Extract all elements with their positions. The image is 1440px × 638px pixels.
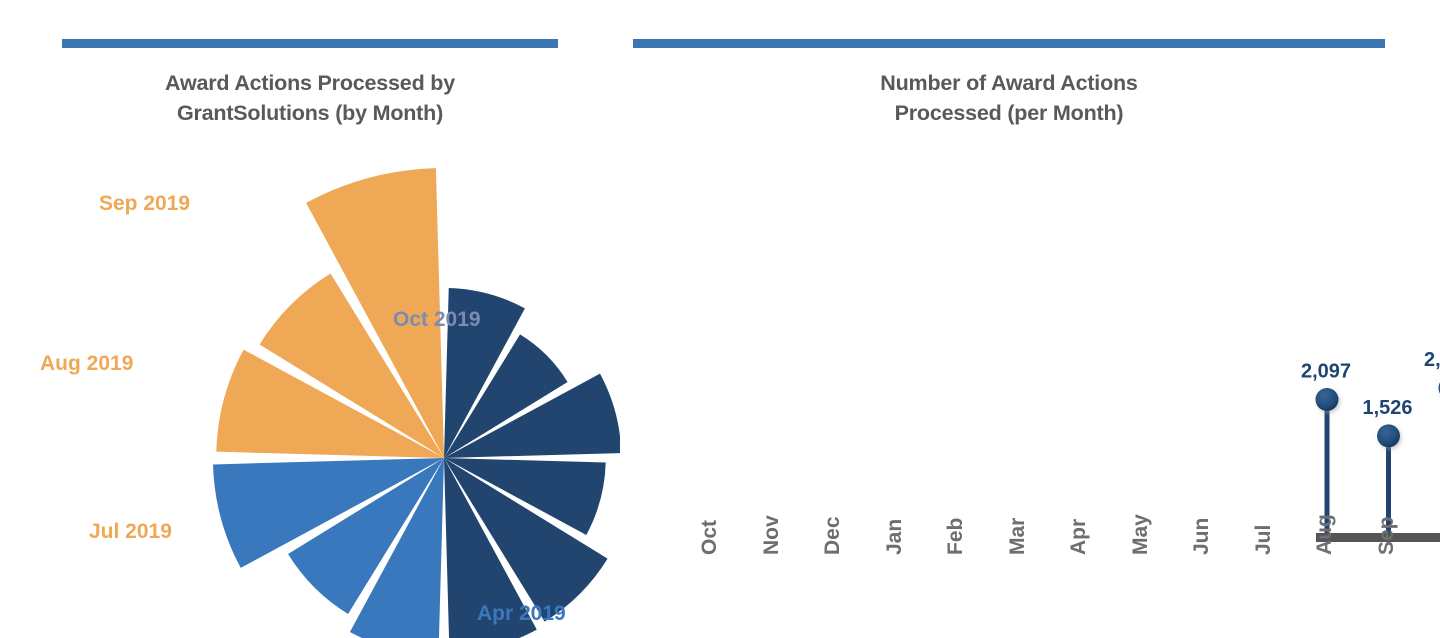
left-chart-title-line2: GrantSolutions (by Month) bbox=[177, 101, 443, 125]
x-axis-label-oct: Oct bbox=[698, 520, 722, 555]
x-axis-label-apr: Apr bbox=[1067, 519, 1091, 555]
rose-label-sep-2019: Sep 2019 bbox=[99, 192, 190, 216]
right-chart-panel: Number of Award Actions Processed (per M… bbox=[620, 0, 1440, 638]
rose-label-apr-2019: Apr 2019 bbox=[477, 602, 566, 626]
left-accent-bar bbox=[62, 39, 558, 48]
right-accent-bar bbox=[633, 39, 1385, 48]
left-chart-panel: Award Actions Processed by GrantSolution… bbox=[0, 0, 620, 638]
lollipop-dot-nov[interactable] bbox=[1377, 424, 1400, 447]
x-axis-label-mar: Mar bbox=[1006, 518, 1030, 555]
rose-label-oct-2019: Oct 2019 bbox=[393, 308, 481, 332]
x-axis-label-dec: Dec bbox=[821, 516, 845, 555]
rose-sectors bbox=[213, 168, 620, 638]
rose-label-jul-2019: Jul 2019 bbox=[89, 520, 172, 544]
lollipop-stems bbox=[1325, 145, 1440, 538]
lollipop-value-nov: 1,526 bbox=[1362, 397, 1412, 419]
lollipop-value-labels: 2,0971,5262,2791,8972,6742,7592,8352,430… bbox=[1301, 110, 1440, 419]
x-axis-label-jul: Jul bbox=[1252, 525, 1276, 555]
x-axis-label-may: May bbox=[1129, 514, 1153, 555]
right-chart-title-line2: Processed (per Month) bbox=[895, 101, 1124, 125]
lollipop-dot-oct[interactable] bbox=[1316, 388, 1339, 411]
x-axis-label-nov: Nov bbox=[760, 515, 784, 555]
x-axis-label-sep: Sep bbox=[1375, 516, 1399, 555]
rose-label-aug-2019: Aug 2019 bbox=[40, 352, 133, 376]
lollipop-value-dec: 2,279 bbox=[1424, 349, 1440, 371]
x-axis-label-aug: Aug bbox=[1313, 514, 1337, 555]
x-axis-label-jan: Jan bbox=[883, 519, 907, 555]
x-axis-label-feb: Feb bbox=[944, 518, 968, 555]
rose-chart bbox=[0, 150, 620, 638]
left-chart-title: Award Actions Processed by GrantSolution… bbox=[62, 68, 558, 128]
left-chart-title-line1: Award Actions Processed by bbox=[165, 71, 455, 95]
x-axis-label-jun: Jun bbox=[1190, 518, 1214, 555]
lollipop-chart: 2,0971,5262,2791,8972,6742,7592,8352,430… bbox=[1240, 110, 1440, 550]
lollipop-value-oct: 2,097 bbox=[1301, 361, 1351, 383]
right-chart-title-line1: Number of Award Actions bbox=[880, 71, 1137, 95]
